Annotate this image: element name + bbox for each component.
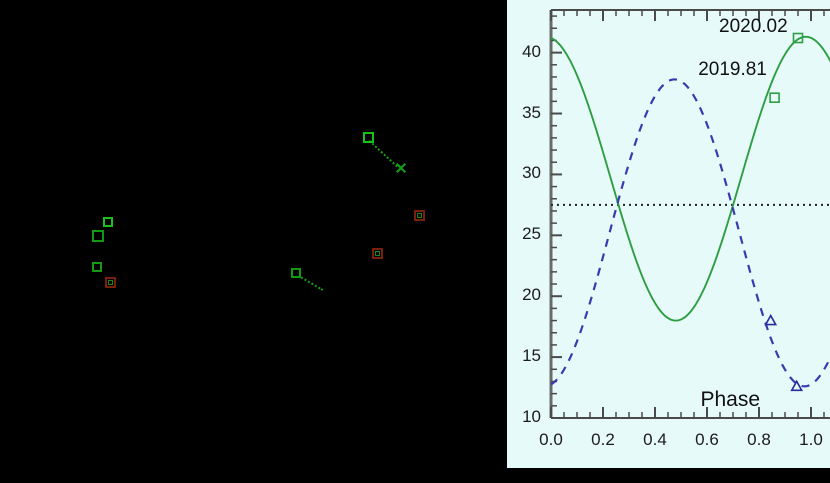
source-marker-red (105, 277, 116, 288)
data-point-marker-triangle (792, 381, 802, 390)
data-point-marker-triangle (766, 316, 776, 325)
x-axis-title: Phase (701, 388, 761, 412)
x-axis-ticks (551, 10, 824, 418)
y-tick-label: 25 (507, 224, 541, 244)
marker-inner-box (417, 213, 422, 218)
motion-trail (369, 140, 398, 167)
y-tick-label: 30 (507, 163, 541, 183)
phase-light-curve-chart: 2020.02 2019.81 Phase 101520253035400.00… (507, 0, 830, 468)
series-line-2019 (551, 79, 830, 386)
y-tick-label: 20 (507, 285, 541, 305)
series-annotation-2019: 2019.81 (698, 59, 767, 81)
y-tick-label: 40 (507, 42, 541, 62)
series-line-2020 (551, 37, 830, 321)
y-tick-label: 10 (507, 407, 541, 427)
y-axis-ticks (551, 16, 562, 418)
source-marker-green (363, 132, 374, 143)
plot-canvas (507, 0, 830, 468)
x-tick-label: 0.0 (534, 430, 568, 450)
marker-inner-box (108, 280, 113, 285)
source-marker-green (103, 217, 113, 227)
source-marker-green (92, 230, 104, 242)
data-point-marker-square (770, 93, 779, 102)
y-tick-label: 35 (507, 103, 541, 123)
cross-marker-icon (395, 162, 407, 174)
source-marker-red (372, 248, 383, 259)
marker-inner-box (375, 251, 380, 256)
screenshot-root: 2020.02 2019.81 Phase 101520253035400.00… (0, 0, 830, 483)
motion-trail (298, 275, 323, 291)
series-annotation-2020: 2020.02 (719, 16, 788, 38)
sky-field-image (0, 0, 500, 483)
x-tick-label: 1.0 (794, 430, 828, 450)
y-tick-label: 15 (507, 346, 541, 366)
axes (551, 10, 830, 418)
source-marker-red (414, 210, 425, 221)
x-tick-label: 0.4 (638, 430, 672, 450)
x-tick-label: 0.2 (586, 430, 620, 450)
x-tick-label: 0.6 (690, 430, 724, 450)
source-marker-green (291, 268, 301, 278)
x-tick-label: 0.8 (742, 430, 776, 450)
source-marker-green (92, 262, 102, 272)
